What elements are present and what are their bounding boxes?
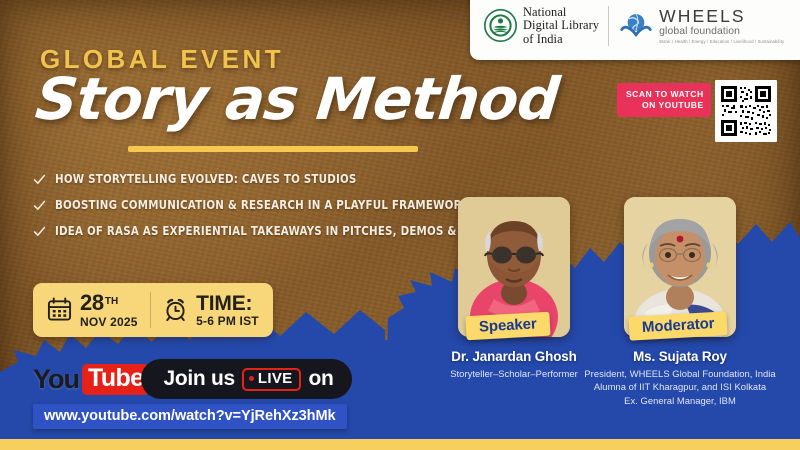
youtube-url-link[interactable]: www.youtube.com/watch?v=YjRehXz3hMk (33, 404, 347, 429)
alarm-clock-icon (163, 297, 188, 322)
youtube-logo-you: You (33, 364, 79, 395)
date-text: 28TH NOV 2025 (80, 292, 138, 328)
ndli-line-3: of India (523, 33, 599, 46)
time-text: TIME: 5-6 PM IST (196, 293, 259, 328)
bottom-yellow-strip (0, 439, 800, 450)
time-cell: TIME: 5-6 PM IST (163, 293, 259, 328)
scan-to-watch-badge: SCAN TO WATCH ON YOUTUBE (617, 83, 711, 117)
wheels-subtitle: global foundation (659, 27, 784, 37)
ndli-seal-icon (484, 9, 517, 42)
header-logo-band: National Digital Library of India WHEELS… (470, 0, 800, 60)
speaker-block: Speaker Dr. Janardan Ghosh Storyteller–S… (458, 197, 570, 337)
list-item: IDEA OF RASA AS EXPERIENTIAL TAKEAWAYS I… (33, 224, 531, 238)
bullet-text: HOW STORYTELLING EVOLVED: CAVES TO STUDI… (55, 172, 357, 186)
ndli-line-1: National (523, 6, 599, 19)
moderator-role: President, WHEELS Global Foundation, Ind… (570, 367, 790, 407)
speaker-badge: Speaker (465, 312, 550, 341)
qr-block[interactable]: SCAN TO WATCH ON YOUTUBE (617, 80, 777, 142)
wheels-name: WHEELS (659, 8, 784, 26)
qr-badge-line-1: SCAN TO WATCH (626, 89, 704, 100)
bullet-list: HOW STORYTELLING EVOLVED: CAVES TO STUDI… (33, 172, 531, 250)
qr-code-icon[interactable] (715, 80, 777, 142)
join-live-pill[interactable]: Join us LIVE on (141, 359, 351, 399)
list-item: HOW STORYTELLING EVOLVED: CAVES TO STUDI… (33, 172, 531, 186)
qr-badge-line-2: ON YOUTUBE (626, 100, 704, 111)
check-icon (33, 225, 46, 238)
ndli-wordmark: National Digital Library of India (523, 6, 599, 46)
time-label: TIME: (196, 293, 259, 314)
youtube-cta-row[interactable]: You Tube Join us LIVE on (33, 359, 352, 399)
ndli-line-2: Digital Library (523, 19, 599, 32)
moderator-block: Moderator Ms. Sujata Roy President, WHEE… (624, 197, 736, 337)
bullet-text: BOOSTING COMMUNICATION & RESEARCH IN A P… (55, 198, 470, 212)
live-label: LIVE (258, 370, 293, 387)
list-item: BOOSTING COMMUNICATION & RESEARCH IN A P… (33, 198, 531, 212)
date-time-badge: 28TH NOV 2025 TIME: 5-6 PM IST (33, 283, 273, 337)
logo-divider (608, 6, 609, 46)
event-month-year: NOV 2025 (80, 316, 138, 328)
live-dot-icon (249, 376, 254, 381)
page-title: Story as Method (33, 70, 561, 128)
event-day: 28 (80, 290, 104, 315)
ndli-logo: National Digital Library of India (484, 6, 599, 46)
time-value: 5-6 PM IST (196, 315, 259, 327)
join-prefix-text: Join us (163, 367, 234, 391)
title-underline (128, 146, 418, 152)
bullet-text: IDEA OF RASA AS EXPERIENTIAL TAKEAWAYS I… (55, 224, 497, 238)
date-cell: 28TH NOV 2025 (47, 292, 138, 328)
wheels-wordmark: WHEELS global foundation Water / Health … (659, 8, 784, 44)
moderator-role-line: Alumna of IIT Kharagpur, and ISI Kolkata (570, 380, 790, 393)
globe-in-hands-icon (618, 10, 654, 42)
youtube-logo: You Tube (33, 364, 149, 395)
calendar-icon (47, 297, 72, 322)
moderator-role-line: President, WHEELS Global Foundation, Ind… (570, 367, 790, 380)
check-icon (33, 199, 46, 212)
event-poster: National Digital Library of India WHEELS… (0, 0, 800, 450)
wheels-tagline: Water / Health / Energy / Education / Li… (659, 40, 784, 44)
check-icon (33, 173, 46, 186)
date-time-divider (150, 292, 152, 328)
wheels-logo: WHEELS global foundation Water / Health … (618, 8, 784, 44)
youtube-logo-tube: Tube (82, 364, 149, 395)
moderator-name: Ms. Sujata Roy (570, 349, 790, 364)
moderator-role-line: Ex. General Manager, IBM (570, 394, 790, 407)
join-suffix-text: on (308, 367, 333, 391)
live-badge: LIVE (242, 368, 302, 391)
event-day-suffix: TH (105, 296, 118, 307)
